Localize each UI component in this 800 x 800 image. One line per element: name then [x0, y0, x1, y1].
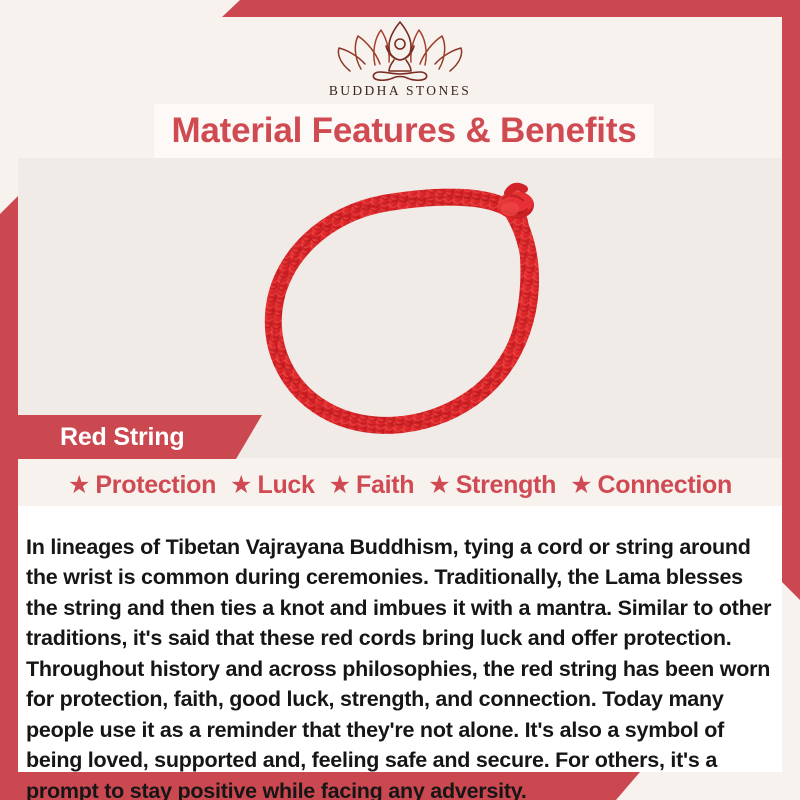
star-icon: ★ [68, 473, 90, 498]
benefit-item-strength: ★ Strength [423, 471, 561, 500]
star-icon: ★ [329, 473, 351, 498]
brand-logo: BUDDHA STONES [329, 15, 471, 99]
benefit-item-faith: ★ Faith [324, 471, 420, 500]
material-ribbon: Red String [0, 415, 262, 459]
hero-product-area [18, 158, 782, 458]
brand-header: BUDDHA STONES [0, 0, 800, 106]
lotus-meditation-figure-icon [332, 15, 468, 81]
frame-band-left [0, 196, 18, 800]
benefit-label: Connection [597, 471, 732, 500]
infographic-poster: BUDDHA STONES Material Features & Benefi… [0, 0, 800, 800]
benefit-label: Luck [257, 471, 314, 500]
title-banner: Material Features & Benefits [154, 104, 654, 158]
description-panel: In lineages of Tibetan Vajrayana Buddhis… [18, 506, 782, 772]
material-name: Red String [60, 423, 184, 452]
benefit-label: Strength [456, 471, 556, 500]
brand-name: BUDDHA STONES [329, 83, 471, 99]
star-icon: ★ [230, 473, 252, 498]
star-icon: ★ [428, 473, 450, 498]
red-braided-string-bracelet-icon [240, 163, 570, 453]
benefit-item-protection: ★ Protection [63, 471, 221, 500]
description-text: In lineages of Tibetan Vajrayana Buddhis… [26, 532, 778, 800]
benefits-row: ★ Protection ★ Luck ★ Faith ★ Strength ★… [18, 463, 782, 507]
benefit-item-luck: ★ Luck [225, 471, 320, 500]
page-title: Material Features & Benefits [171, 111, 636, 151]
benefit-label: Protection [95, 471, 216, 500]
star-icon: ★ [570, 473, 592, 498]
benefit-item-connection: ★ Connection [565, 471, 737, 500]
benefit-label: Faith [356, 471, 414, 500]
